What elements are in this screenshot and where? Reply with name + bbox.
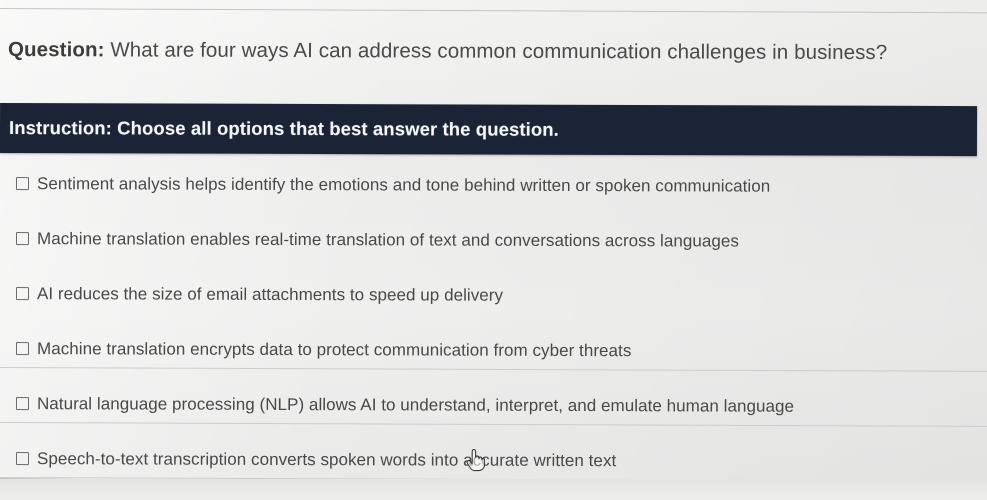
checkbox-option-1[interactable]: [16, 177, 29, 190]
options-list: Sentiment analysis helps identify the em…: [0, 156, 987, 486]
question-row: Question: What are four ways AI can addr…: [0, 30, 987, 73]
question-label: Question:: [8, 38, 105, 61]
option-label-6: Speech-to-text transcription converts sp…: [37, 449, 616, 471]
bottom-band: [0, 479, 987, 500]
option-label-2: Machine translation enables real-time tr…: [37, 229, 739, 251]
option-label-4: Machine translation encrypts data to pro…: [37, 339, 631, 361]
checkbox-option-4[interactable]: [16, 342, 29, 355]
top-divider: [0, 8, 987, 13]
quiz-screen: Question: What are four ways AI can addr…: [0, 0, 987, 500]
option-label-5: Natural language processing (NLP) allows…: [37, 394, 794, 417]
checkbox-option-3[interactable]: [16, 287, 29, 300]
question-text: Question: What are four ways AI can addr…: [8, 38, 887, 65]
instruction-text: Instruction: Choose all options that bes…: [9, 117, 559, 141]
option-row-3[interactable]: AI reduces the size of email attachments…: [0, 266, 987, 324]
question-body: What are four ways AI can address common…: [105, 38, 888, 64]
instruction-bar: Instruction: Choose all options that bes…: [0, 103, 977, 156]
checkbox-option-5[interactable]: [16, 397, 29, 410]
option-row-4[interactable]: Machine translation encrypts data to pro…: [0, 321, 987, 379]
option-row-5[interactable]: Natural language processing (NLP) allows…: [0, 376, 987, 434]
checkbox-option-2[interactable]: [16, 232, 29, 245]
option-row-1[interactable]: Sentiment analysis helps identify the em…: [0, 156, 987, 214]
option-label-1: Sentiment analysis helps identify the em…: [37, 174, 770, 197]
option-row-2[interactable]: Machine translation enables real-time tr…: [0, 211, 987, 269]
checkbox-option-6[interactable]: [16, 452, 29, 465]
option-label-3: AI reduces the size of email attachments…: [37, 284, 503, 306]
